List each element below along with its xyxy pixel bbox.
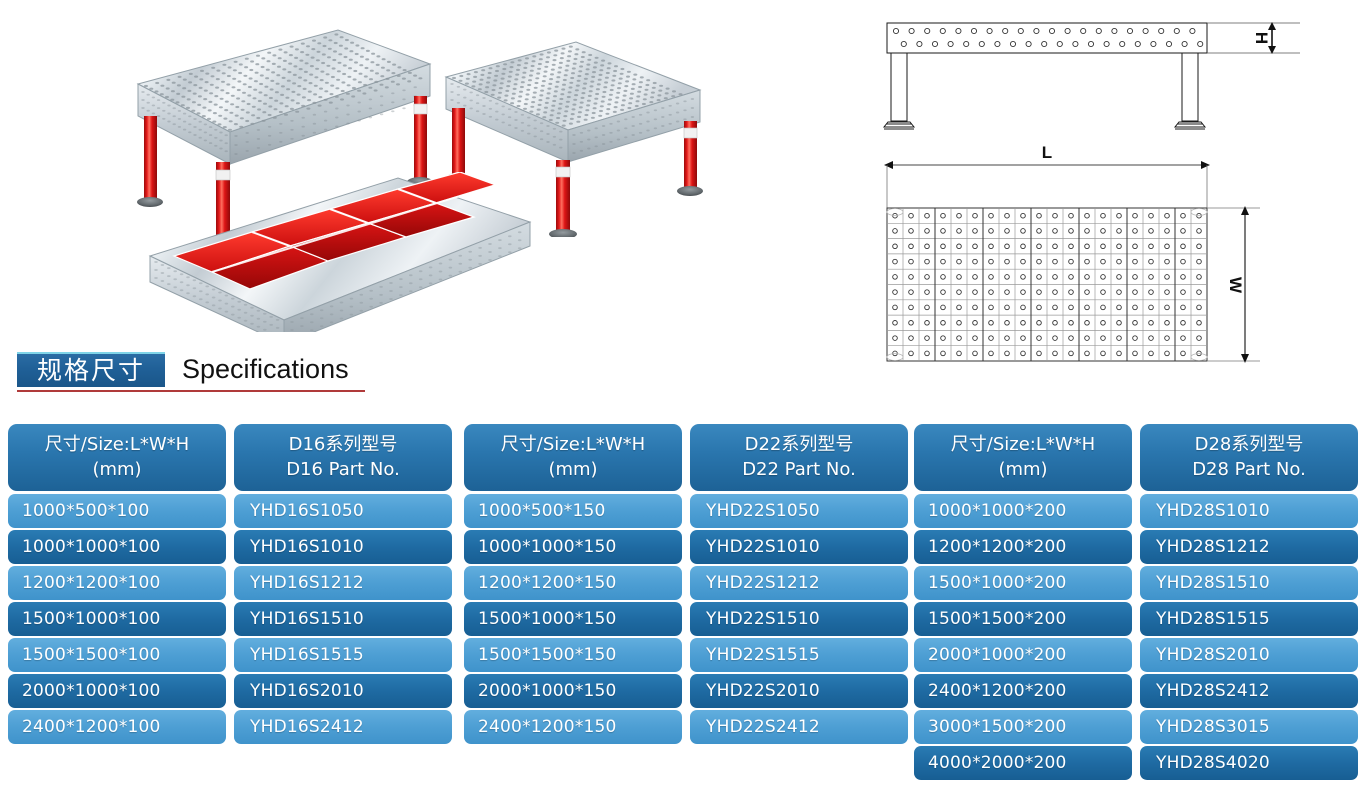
header-part-cn: D16系列型号 xyxy=(289,434,398,455)
table-row: 1000*1000*150YHD22S1010 xyxy=(464,530,905,564)
cell-part-no: YHD16S1510 xyxy=(234,602,452,636)
product-image-cutaway-table xyxy=(140,172,540,332)
cell-part-no: YHD28S3015 xyxy=(1140,710,1358,744)
cell-size: 4000*2000*200 xyxy=(914,746,1132,780)
header-size-cn: 尺寸/Size:L*W*H xyxy=(951,434,1095,455)
cell-part-no: YHD28S1515 xyxy=(1140,602,1358,636)
elevation-leg-left xyxy=(891,53,907,121)
spec-table-d28: 尺寸/Size:L*W*H(mm)D28系列型号D28 Part No.1000… xyxy=(914,424,1355,782)
header-cell-size: 尺寸/Size:L*W*H(mm) xyxy=(8,424,226,491)
table-row: 1000*500*100YHD16S1050 xyxy=(8,494,449,528)
cell-size: 1500*1000*150 xyxy=(464,602,682,636)
leveling-foot xyxy=(549,229,577,237)
header-part-cn: D28系列型号 xyxy=(1195,434,1304,455)
cell-part-no: YHD16S2010 xyxy=(234,674,452,708)
product-images xyxy=(0,0,780,340)
cell-size: 1500*1000*100 xyxy=(8,602,226,636)
cell-size: 1500*1500*200 xyxy=(914,602,1132,636)
drawing-svg: H L W xyxy=(860,0,1360,400)
specification-tables: 尺寸/Size:L*W*H(mm)D16系列型号D16 Part No.1000… xyxy=(0,424,1360,792)
dim-label-width: W xyxy=(1226,277,1245,294)
cell-size: 2400*1200*100 xyxy=(8,710,226,744)
table-row: 1000*500*150YHD22S1050 xyxy=(464,494,905,528)
cell-part-no: YHD16S2412 xyxy=(234,710,452,744)
header-cell-size: 尺寸/Size:L*W*H(mm) xyxy=(464,424,682,491)
header-size-unit: (mm) xyxy=(914,457,1132,482)
table-row: 3000*1500*200YHD28S3015 xyxy=(914,710,1355,744)
cell-part-no: YHD22S1050 xyxy=(690,494,908,528)
header-size-cn: 尺寸/Size:L*W*H xyxy=(45,434,189,455)
table-row: 1500*1000*150YHD22S1510 xyxy=(464,602,905,636)
table-header-row: 尺寸/Size:L*W*H(mm)D28系列型号D28 Part No. xyxy=(914,424,1355,491)
cell-part-no: YHD16S1050 xyxy=(234,494,452,528)
table-row: 1000*1000*200YHD28S1010 xyxy=(914,494,1355,528)
elevation-tabletop xyxy=(887,23,1207,53)
cell-size: 3000*1500*200 xyxy=(914,710,1132,744)
spec-table-d22: 尺寸/Size:L*W*H(mm)D22系列型号D22 Part No.1000… xyxy=(464,424,905,746)
section-title: 规格尺寸 Specifications xyxy=(0,348,700,396)
spec-table-d16: 尺寸/Size:L*W*H(mm)D16系列型号D16 Part No.1000… xyxy=(8,424,449,746)
table-row: 1500*1000*100YHD16S1510 xyxy=(8,602,449,636)
cell-size: 1200*1200*200 xyxy=(914,530,1132,564)
table-row: 1500*1000*200YHD28S1510 xyxy=(914,566,1355,600)
table-header-row: 尺寸/Size:L*W*H(mm)D22系列型号D22 Part No. xyxy=(464,424,905,491)
table-row: 4000*2000*200YHD28S4020 xyxy=(914,746,1355,780)
cell-part-no: YHD16S1010 xyxy=(234,530,452,564)
cell-size: 1000*1000*150 xyxy=(464,530,682,564)
cell-part-no: YHD28S2010 xyxy=(1140,638,1358,672)
table-leg xyxy=(452,108,465,176)
cell-size: 1500*1000*200 xyxy=(914,566,1132,600)
header-cell-part: D16系列型号D16 Part No. xyxy=(234,424,452,491)
header-size-cn: 尺寸/Size:L*W*H xyxy=(501,434,645,455)
leg-badge xyxy=(414,104,427,114)
table-row: 2000*1000*150YHD22S2010 xyxy=(464,674,905,708)
header-part-cn: D22系列型号 xyxy=(745,434,854,455)
cell-part-no: YHD16S1515 xyxy=(234,638,452,672)
cell-size: 1200*1200*100 xyxy=(8,566,226,600)
header-cell-part: D22系列型号D22 Part No. xyxy=(690,424,908,491)
table-row: 2400*1200*100YHD16S2412 xyxy=(8,710,449,744)
header-size-unit: (mm) xyxy=(464,457,682,482)
spec-sheet-page: H L W 规格尺寸 Specifications 尺寸/Size:L*W*H(… xyxy=(0,0,1360,792)
cell-size: 1200*1200*150 xyxy=(464,566,682,600)
table-row: 2400*1200*200YHD28S2412 xyxy=(914,674,1355,708)
section-title-badge-cn: 规格尺寸 xyxy=(17,352,165,387)
cell-part-no: YHD28S1510 xyxy=(1140,566,1358,600)
table-row: 1200*1200*200YHD28S1212 xyxy=(914,530,1355,564)
header-cell-part: D28系列型号D28 Part No. xyxy=(1140,424,1358,491)
cell-size: 2000*1000*150 xyxy=(464,674,682,708)
cell-size: 1000*500*150 xyxy=(464,494,682,528)
cell-size: 2400*1200*150 xyxy=(464,710,682,744)
cell-part-no: YHD22S1510 xyxy=(690,602,908,636)
header-part-en: D28 Part No. xyxy=(1140,457,1358,482)
section-title-rule xyxy=(17,390,365,392)
cell-size: 2000*1000*100 xyxy=(8,674,226,708)
cell-part-no: YHD22S1010 xyxy=(690,530,908,564)
table-row: 1000*1000*100YHD16S1010 xyxy=(8,530,449,564)
cell-part-no: YHD28S1212 xyxy=(1140,530,1358,564)
header-part-en: D16 Part No. xyxy=(234,457,452,482)
elevation-leg-right xyxy=(1182,53,1198,121)
header-cell-size: 尺寸/Size:L*W*H(mm) xyxy=(914,424,1132,491)
cell-size: 2000*1000*200 xyxy=(914,638,1132,672)
table-header-row: 尺寸/Size:L*W*H(mm)D16系列型号D16 Part No. xyxy=(8,424,449,491)
dim-label-height: H xyxy=(1252,32,1271,44)
table-row: 1500*1500*150YHD22S1515 xyxy=(464,638,905,672)
cell-size: 1000*1000*200 xyxy=(914,494,1132,528)
cell-size: 1000*1000*100 xyxy=(8,530,226,564)
table-row: 2000*1000*100YHD16S2010 xyxy=(8,674,449,708)
table-row: 1500*1500*100YHD16S1515 xyxy=(8,638,449,672)
cell-size: 2400*1200*200 xyxy=(914,674,1132,708)
cell-size: 1500*1500*150 xyxy=(464,638,682,672)
cell-part-no: YHD28S1010 xyxy=(1140,494,1358,528)
table-row: 1200*1200*100YHD16S1212 xyxy=(8,566,449,600)
table-row: 2000*1000*200YHD28S2010 xyxy=(914,638,1355,672)
cell-size: 1500*1500*100 xyxy=(8,638,226,672)
leg-badge xyxy=(684,128,697,138)
cell-size: 1000*500*100 xyxy=(8,494,226,528)
cell-part-no: YHD22S2010 xyxy=(690,674,908,708)
header-part-en: D22 Part No. xyxy=(690,457,908,482)
cell-part-no: YHD28S4020 xyxy=(1140,746,1358,780)
cell-part-no: YHD22S1212 xyxy=(690,566,908,600)
cell-part-no: YHD28S2412 xyxy=(1140,674,1358,708)
technical-drawing: H L W xyxy=(860,0,1360,400)
leg-badge xyxy=(556,167,570,177)
dim-label-length: L xyxy=(1042,143,1052,162)
table-row: 1500*1500*200YHD28S1515 xyxy=(914,602,1355,636)
cell-part-no: YHD16S1212 xyxy=(234,566,452,600)
leveling-foot xyxy=(677,186,703,196)
section-title-en: Specifications xyxy=(182,352,349,387)
cell-part-no: YHD22S2412 xyxy=(690,710,908,744)
header-size-unit: (mm) xyxy=(8,457,226,482)
table-row: 2400*1200*150YHD22S2412 xyxy=(464,710,905,744)
cell-part-no: YHD22S1515 xyxy=(690,638,908,672)
table-row: 1200*1200*150YHD22S1212 xyxy=(464,566,905,600)
